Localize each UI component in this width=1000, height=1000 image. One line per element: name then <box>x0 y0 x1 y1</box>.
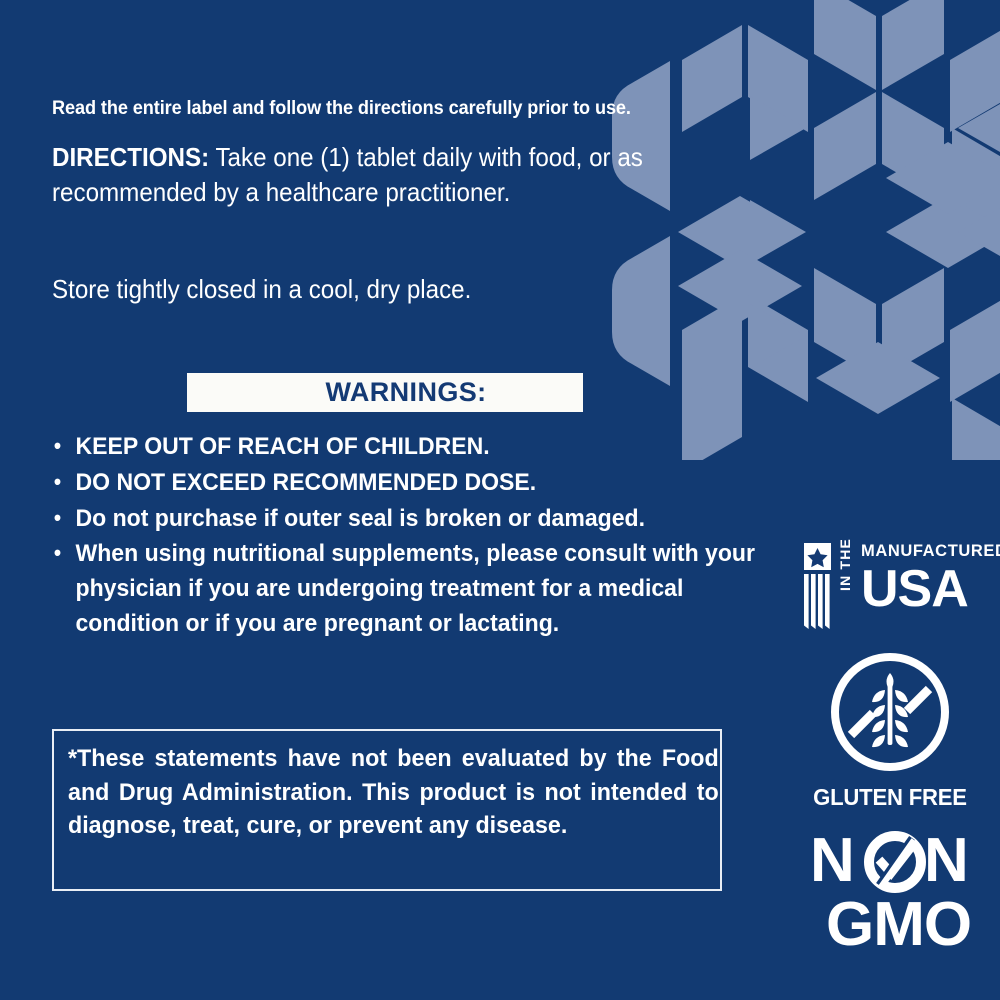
list-item: DO NOT EXCEED RECOMMENDED DOSE. <box>52 466 771 501</box>
lead-instruction: Read the entire label and follow the dir… <box>52 96 703 120</box>
certification-badges: MANUFACTURED IN THE USA <box>790 535 990 956</box>
warnings-heading-banner: WARNINGS: <box>187 373 583 412</box>
non-gmo-letter-n-right: N <box>924 826 968 895</box>
usa-line-usa: USA <box>861 563 968 615</box>
gluten-free-wheat-icon <box>827 649 953 775</box>
gluten-free-label: GLUTEN FREE <box>794 784 986 811</box>
non-gmo-check-icon: N N GMO <box>800 825 980 951</box>
label-text-column: Read the entire label and follow the dir… <box>52 96 752 306</box>
warnings-list: KEEP OUT OF REACH OF CHILDREN. DO NOT EX… <box>52 430 752 643</box>
usa-flag-icon <box>800 543 834 629</box>
list-item: When using nutritional supplements, plea… <box>52 537 771 641</box>
badge-non-gmo: N N GMO <box>790 825 990 956</box>
list-item: Do not purchase if outer seal is broken … <box>52 502 771 537</box>
usa-line-manufactured: MANUFACTURED <box>861 543 1000 560</box>
directions-label: DIRECTIONS: <box>52 142 209 172</box>
fda-disclaimer-box: *These statements have not been evaluate… <box>52 729 722 891</box>
fda-disclaimer-text: *These statements have not been evaluate… <box>68 742 719 843</box>
list-item: KEEP OUT OF REACH OF CHILDREN. <box>52 430 771 465</box>
warnings-heading-text: WARNINGS: <box>325 377 486 408</box>
usa-badge-text: MANUFACTURED IN THE USA <box>834 543 1000 560</box>
usa-line-in-the: IN THE <box>837 538 853 591</box>
badge-manufactured-in-usa: MANUFACTURED IN THE USA <box>790 535 990 635</box>
non-gmo-line-gmo: GMO <box>826 890 971 951</box>
storage-instruction: Store tightly closed in a cool, dry plac… <box>52 273 703 307</box>
non-gmo-letter-n-left: N <box>810 826 854 895</box>
badge-gluten-free: GLUTEN FREE <box>790 649 990 809</box>
directions-paragraph: DIRECTIONS: Take one (1) tablet daily wi… <box>52 140 740 209</box>
